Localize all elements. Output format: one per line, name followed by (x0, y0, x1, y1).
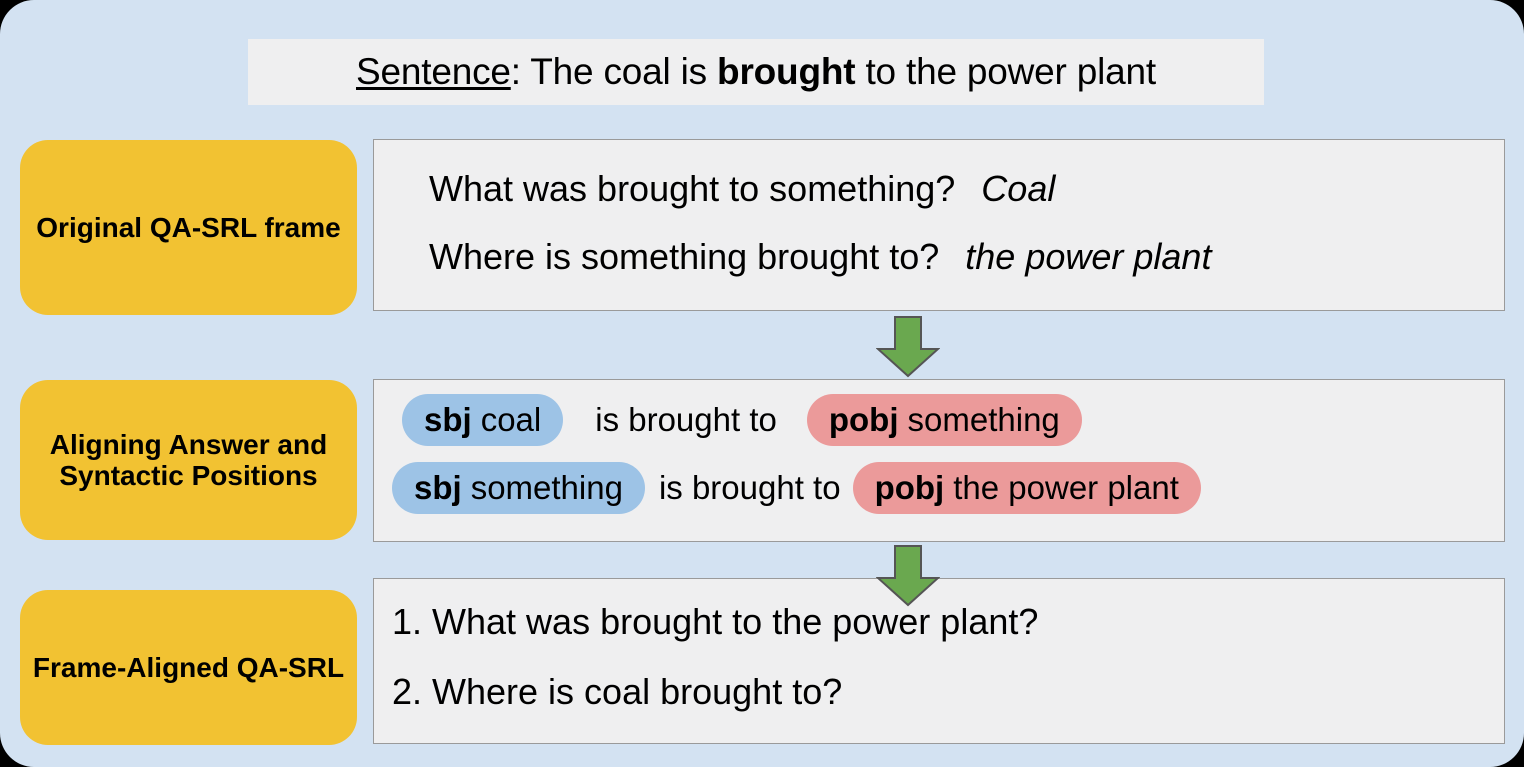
frame-aligned-question: 1. What was brought to the power plant? (392, 601, 1038, 643)
sentence-predicate: brought (717, 51, 855, 92)
object-pill: pobj something (807, 394, 1082, 446)
panel-aligning-positions: sbj coal is brought to pobj something sb… (373, 379, 1505, 542)
down-arrow-icon (876, 545, 940, 607)
frame-aligned-question: 2. Where is coal brought to? (392, 671, 842, 713)
qa-row: What was brought to something? Coal (429, 168, 1055, 210)
qa-question: Where is something brought to? (429, 236, 939, 278)
stage-label-original-qa-srl-frame: Original QA-SRL frame (20, 140, 357, 315)
alignment-row: sbj something is brought to pobj the pow… (392, 462, 1201, 514)
qa-question: What was brought to something? (429, 168, 955, 210)
sentence-before: The coal is (530, 51, 717, 92)
stage-label-aligning-answer-and-syntactic-positions: Aligning Answer and Syntactic Positions (20, 380, 357, 540)
alignment-connector: is brought to (595, 401, 777, 439)
panel-original-qa-srl-frame: What was brought to something? Coal Wher… (373, 139, 1505, 311)
object-pill: pobj the power plant (853, 462, 1201, 514)
down-arrow-icon (876, 316, 940, 378)
subject-pill: sbj something (392, 462, 645, 514)
stage-label-frame-aligned-qa-srl: Frame-Aligned QA-SRL (20, 590, 357, 745)
alignment-row: sbj coal is brought to pobj something (402, 394, 1082, 446)
object-role-label: pobj (829, 401, 899, 439)
subject-role-label: sbj (424, 401, 472, 439)
subject-pill: sbj coal (402, 394, 563, 446)
alignment-connector: is brought to (659, 469, 841, 507)
qa-answer: Coal (981, 168, 1055, 210)
subject-pill-text: something (471, 469, 623, 507)
object-pill-text: the power plant (953, 469, 1179, 507)
sentence-banner: Sentence: The coal is brought to the pow… (248, 39, 1264, 105)
figure-root: Sentence: The coal is brought to the pow… (0, 0, 1524, 767)
sentence-colon: : (511, 51, 531, 92)
sentence-label: Sentence (356, 51, 511, 92)
qa-row: Where is something brought to? the power… (429, 236, 1211, 278)
subject-role-label: sbj (414, 469, 462, 507)
sentence-text: Sentence: The coal is brought to the pow… (356, 51, 1156, 93)
object-pill-text: something (908, 401, 1060, 439)
object-role-label: pobj (875, 469, 945, 507)
qa-answer: the power plant (965, 236, 1211, 278)
subject-pill-text: coal (481, 401, 542, 439)
sentence-after: to the power plant (855, 51, 1156, 92)
